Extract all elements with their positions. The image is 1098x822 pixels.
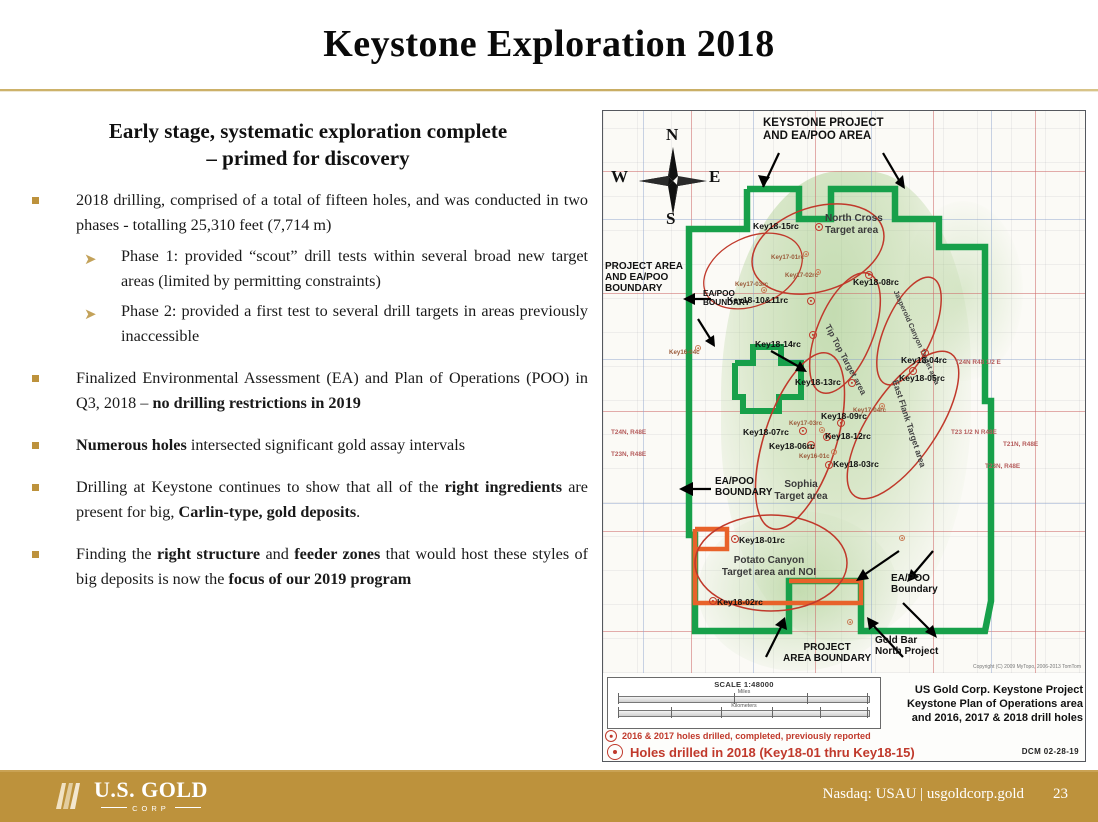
label-line-2: AND EA/POO AREA [763,130,871,142]
compass-south-label: S [666,209,675,229]
square-bullet-icon [32,484,39,491]
prior-drill-hole-label: Key16-01c [799,453,830,460]
scale-tick [721,707,722,718]
logo-secondary-text: CORP [132,804,170,813]
label-eapoo-boundary-mid: EA/POO BOUNDARY [715,476,772,498]
bullet-item-assays: Numerous holes intersected significant g… [28,433,588,458]
drill-hole-label: Key18-05rc [899,373,945,383]
prior-drill-hole-label: Key17-01rc [771,254,804,261]
target-line-2: Target area [774,491,827,502]
prior-drill-hole-label: Key17-02rc [785,272,818,279]
scale-tick [772,707,773,718]
target-label-north-cross: North Cross Target area [825,213,883,236]
caption-line-3: and 2016, 2017 & 2018 drill holes [891,711,1083,725]
compass-east-label: E [709,167,720,187]
section-subtitle: Early stage, systematic exploration comp… [28,118,588,172]
target-label-sophia: Sophia Target area [774,479,827,502]
drill-hole-label: Key18-06rc [769,441,815,451]
drill-hole-label: Key18-07rc [743,427,789,437]
bullet-text: 2018 drilling, comprised of a total of f… [76,191,588,234]
bullet-seg-2: right structure [157,545,260,563]
legend-prior-text: 2016 & 2017 holes drilled, completed, pr… [622,731,871,741]
slide-footer: U.S. GOLD CORP Nasdaq: USAU | usgoldcorp… [0,770,1098,822]
bullet-seg-4: Carlin-type, gold deposits [179,503,357,521]
prior-drill-hole-marker [847,619,853,625]
square-bullet-icon [32,551,39,558]
drill-hole-label: Key18-12rc [825,431,871,441]
target-line-2: Target area [825,225,878,236]
label-line-1: Gold Bar [875,635,917,646]
label-line-2: North Project [875,646,938,657]
scale-miles-label: Miles [618,689,870,695]
drill-hole-marker [799,427,807,435]
bullet-list: 2018 drilling, comprised of a total of f… [28,188,588,592]
drill-hole-label: Key18-13rc [795,377,841,387]
label-keystone-project: KEYSTONE PROJECT AND EA/POO AREA [763,117,884,143]
sub-bullet-text: Phase 1: provided “scout” drill tests wi… [121,247,588,290]
drill-hole-symbol-icon [607,744,623,760]
title-divider-shadow [0,91,1098,92]
logo-mark-icon [52,779,86,813]
label-project-area-eapoo: PROJECT AREA AND EA/POO BOUNDARY [605,261,683,295]
caption-line-1: US Gold Corp. Keystone Project [891,683,1083,697]
township-label: T23N, R48E [611,451,646,458]
label-line-2: AND EA/POO [605,272,668,283]
township-label: T23 1/2 N R48E [951,429,997,436]
prior-drill-hole-label: Key17-03rc [789,420,822,427]
poo-inner-lobe [735,347,801,411]
subtitle-line-1: Early stage, systematic exploration comp… [109,119,507,143]
scale-bar-track [618,696,870,703]
bullet-item-ingredients: Drilling at Keystone continues to show t… [28,475,588,525]
bullet-seg-3: and [260,545,294,563]
square-bullet-icon [32,375,39,382]
drill-hole-symbol-icon [605,730,617,742]
scale-tick [867,707,868,718]
drill-hole-label: Key18-01rc [739,535,785,545]
sub-bullet-list: ➤ Phase 1: provided “scout” drill tests … [76,244,588,349]
compass-west-label: W [611,167,628,187]
map-caption: US Gold Corp. Keystone Project Keystone … [891,683,1083,725]
bullet-seg-1: Finding the [76,545,157,563]
legend-2018-holes: Holes drilled in 2018 (Key18-01 thru Key… [607,744,915,760]
legend-prior-holes: 2016 & 2017 holes drilled, completed, pr… [605,730,871,742]
label-line-1: EA/POO [891,573,930,584]
arrow-bullet-icon: ➤ [84,302,97,327]
arrow-bullet-icon: ➤ [84,247,97,272]
sub-bullet-phase-2: ➤ Phase 2: provided a first test to seve… [76,299,588,349]
bullet-seg-6: focus of our 2019 program [228,570,411,588]
drill-hole-label: Key18-03rc [833,459,879,469]
prior-drill-hole-label: Key17-04rc [853,407,886,414]
bullet-text-part-b: intersected significant gold assay inter… [187,436,465,454]
keystone-project-map: N S W E KEYSTONE PROJECT AND EA/POO AREA… [602,110,1086,762]
label-eapoo-boundary-right: EA/POO Boundary [891,573,938,595]
target-line-1: Potato Canyon [734,555,805,566]
label-line-3: BOUNDARY [605,283,662,294]
bullet-seg-1: Drilling at Keystone continues to show t… [76,478,445,496]
drill-hole-marker [815,223,823,231]
content-column: Early stage, systematic exploration comp… [28,118,588,609]
township-label: T24N R48 1/2 E [955,359,1001,366]
drill-hole-label: Key18-15rc [753,221,799,231]
bullet-item-structure: Finding the right structure and feeder z… [28,542,588,592]
logo-primary-text: U.S. GOLD [94,779,208,801]
label-line-1: KEYSTONE PROJECT [763,117,884,129]
square-bullet-icon [32,442,39,449]
target-line-1: North Cross [825,213,883,224]
label-project-area-boundary: PROJECT AREA BOUNDARY [783,642,871,664]
prior-drill-hole-marker [831,449,837,455]
drill-hole-marker [731,535,739,543]
logo-rule-right [175,807,201,808]
page-title: Keystone Exploration 2018 [0,22,1098,66]
scale-title: SCALE 1:48000 [608,680,880,689]
scale-bar-track [618,710,870,717]
target-line-2: Target area and NOI [722,567,816,578]
footer-page-number: 23 [1053,786,1068,803]
prior-drill-hole-marker [899,535,905,541]
bullet-text-part-a: Numerous holes [76,436,187,454]
drill-hole-label: Key18-10&11rc [727,295,788,305]
scale-km-label: Kilometers [618,703,870,709]
label-gold-bar-north: Gold Bar North Project [875,635,938,657]
label-line-2: BOUNDARY [715,487,772,498]
scale-tick [671,707,672,718]
bullet-item-permitting: Finalized Environmental Assessment (EA) … [28,366,588,416]
footer-top-edge [0,770,1098,772]
drill-hole-marker [848,379,856,387]
sub-bullet-phase-1: ➤ Phase 1: provided “scout” drill tests … [76,244,588,294]
bullet-text-part-b: no drilling restrictions in 2019 [152,394,360,412]
legend-2018-text: Holes drilled in 2018 (Key18-01 thru Key… [630,745,915,760]
drill-hole-label: Key18-08rc [853,277,899,287]
target-label-potato-canyon: Potato Canyon Target area and NOI [722,555,816,578]
township-label: T23N, R48E [985,463,1020,470]
drill-hole-marker [825,461,833,469]
bullet-seg-2: right ingredients [445,478,562,496]
drill-hole-marker [807,297,815,305]
bullet-seg-4: feeder zones [294,545,380,563]
bullet-seg-5: . [356,503,360,521]
compass-rose: N S W E [625,133,721,229]
footer-ticker-website: Nasdaq: USAU | usgoldcorp.gold [823,786,1024,803]
bullet-item-drilling: 2018 drilling, comprised of a total of f… [28,188,588,349]
logo-text-block: U.S. GOLD CORP [94,779,208,813]
square-bullet-icon [32,197,39,204]
prior-drill-hole-label: Key17-03rc [735,281,768,288]
prior-drill-hole-marker [819,427,825,433]
compass-north-label: N [666,125,678,145]
label-line-1: PROJECT [803,642,850,653]
scale-tick [618,707,619,718]
label-line-1: PROJECT AREA [605,261,683,272]
drill-hole-label: Key18-14rc [755,339,801,349]
scale-bar-kilometers: Kilometers [618,704,870,717]
logo-rule-left [101,807,127,808]
map-canvas: N S W E KEYSTONE PROJECT AND EA/POO AREA… [603,111,1085,673]
township-label: T21N, R48E [1003,441,1038,448]
logo-secondary-row: CORP [94,801,208,813]
map-copyright: Copyright (C) 2009 MyTopo, 2006-2013 Tom… [973,664,1081,670]
drill-hole-marker [709,597,717,605]
target-line-1: Sophia [784,479,817,490]
company-logo: U.S. GOLD CORP [52,779,208,813]
label-line-1: EA/POO [715,476,754,487]
drill-hole-label: Key18-04rc [901,355,947,365]
map-scale-bar: SCALE 1:48000 Miles Kilometers [607,677,881,729]
gold-bars-icon [52,779,86,813]
caption-line-2: Keystone Plan of Operations area [891,697,1083,711]
label-line-2: AREA BOUNDARY [783,653,871,664]
map-dcm-stamp: DCM 02-28-19 [1022,747,1079,756]
township-label: T24N, R48E [611,429,646,436]
drill-hole-label: Key18-02rc [717,597,763,607]
prior-drill-hole-label: Key16-04c [669,349,700,356]
sub-bullet-text: Phase 2: provided a first test to severa… [121,302,588,345]
subtitle-line-2: – primed for discovery [206,146,409,170]
label-line-2: Boundary [891,584,938,595]
drill-hole-marker [809,331,817,339]
scale-bar-miles: Miles [618,690,870,703]
scale-tick [820,707,821,718]
